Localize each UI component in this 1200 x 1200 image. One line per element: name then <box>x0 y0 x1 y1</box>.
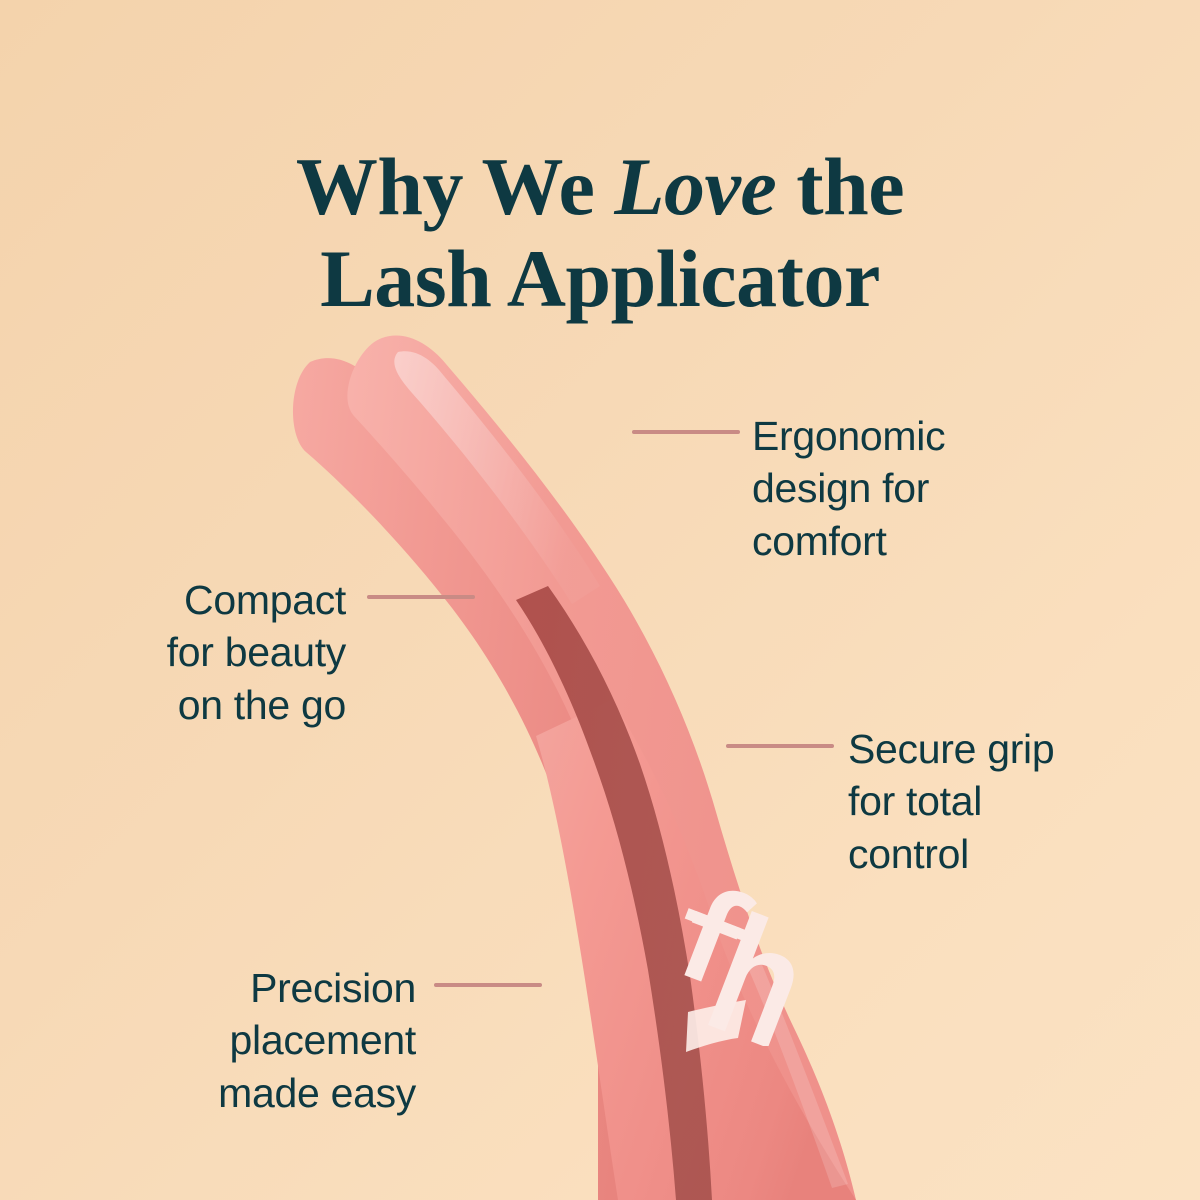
applicator-handle-body <box>536 700 856 1200</box>
title-part-before: Why We <box>296 141 615 232</box>
title-emphasis-love: Love <box>614 141 776 232</box>
leader-line-ergonomic <box>632 430 740 434</box>
applicator-highlight <box>394 351 600 604</box>
title-part-after: the <box>776 141 904 232</box>
applicator-gloss-patch <box>686 1000 746 1052</box>
callout-precision: Precision placement made easy <box>110 962 416 1119</box>
product-infographic: Why We Love the Lash Applicator Ergonomi… <box>0 0 1200 1200</box>
page-title: Why We Love the Lash Applicator <box>0 141 1200 325</box>
callout-secure-grip: Secure grip for total control <box>848 723 1148 880</box>
applicator-edge-light <box>748 960 848 1188</box>
leader-line-compact <box>367 595 475 599</box>
fh-logo <box>648 876 798 1046</box>
callout-compact: Compact for beauty on the go <box>40 574 346 731</box>
leader-line-secure-grip <box>726 744 834 748</box>
prong-cast-shadow <box>318 396 660 790</box>
title-line-1: Why We Love the <box>296 141 904 232</box>
applicator-seam-shadow <box>516 586 712 1200</box>
callout-ergonomic: Ergonomic design for comfort <box>752 410 1052 567</box>
title-line-2: Lash Applicator <box>320 233 880 324</box>
leader-line-precision <box>434 983 542 987</box>
